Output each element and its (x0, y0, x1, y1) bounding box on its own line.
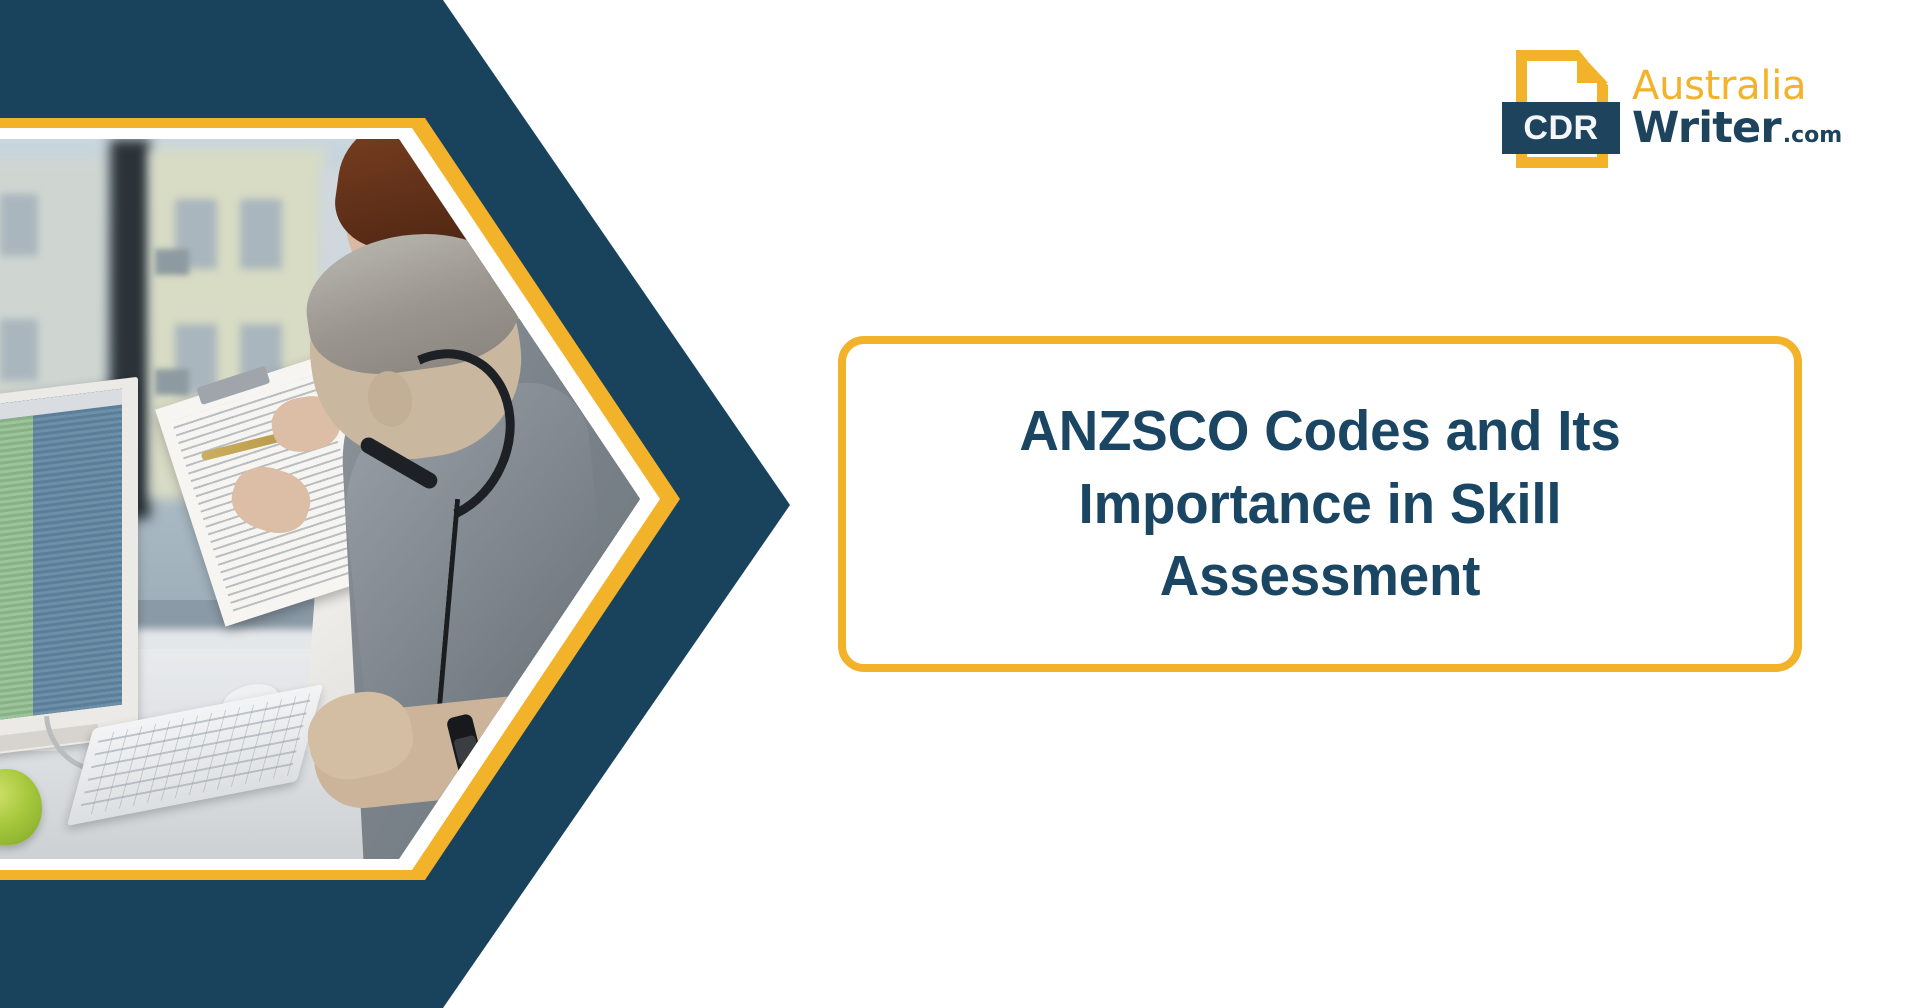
spreadsheet-column-group (33, 405, 122, 716)
air-conditioner-unit (155, 249, 189, 275)
air-conditioner-unit (155, 369, 189, 395)
page-title: ANZSCO Codes and Its Importance in Skill… (926, 395, 1713, 614)
logo-document-icon: CDR (1502, 44, 1620, 172)
logo-word-writer: Writer (1632, 107, 1781, 150)
logo-wordmark: Australia Writer .com (1632, 66, 1842, 150)
logo-word-australia: Australia (1632, 66, 1842, 107)
logo-cdr-badge: CDR (1502, 102, 1620, 154)
logo-cdr-text: CDR (1523, 111, 1598, 145)
building-window (0, 194, 38, 256)
banner-root: CDR Australia Writer .com ANZSCO Codes a… (0, 0, 1920, 1008)
spreadsheet-column-group (0, 416, 33, 721)
cdr-australia-writer-logo[interactable]: CDR Australia Writer .com (1502, 44, 1872, 172)
logo-word-writer-row: Writer .com (1632, 107, 1842, 150)
building-window (240, 199, 282, 269)
desktop-monitor (0, 377, 138, 762)
building-window (0, 319, 38, 381)
title-card: ANZSCO Codes and Its Importance in Skill… (838, 336, 1802, 672)
monitor-screen (0, 389, 122, 727)
logo-tld: .com (1783, 125, 1842, 147)
